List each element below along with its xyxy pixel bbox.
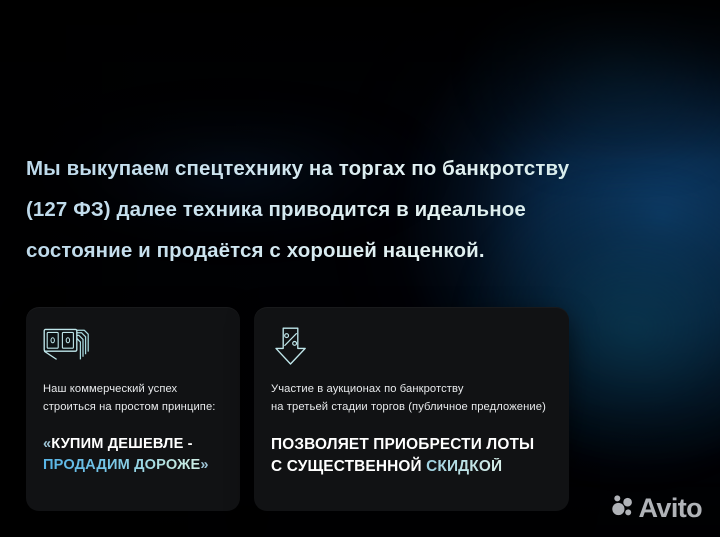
punch-line-1: КУПИМ ДЕШЕВЛЕ - [51,436,192,452]
avito-wordmark: Avito [639,495,703,522]
quote-close: » [200,457,208,473]
avito-logo-icon [610,494,635,523]
avito-watermark: Avito [610,494,703,523]
card-list: Наш коммерческий успех строиться на прос… [26,307,569,511]
banknotes-icon [43,325,223,367]
card-punch-text: ПОЗВОЛЯЕТ ПРИОБРЕСТИ ЛОТЫ С СУЩЕСТВЕННОЙ… [271,434,552,477]
punch-line-1: ПОЗВОЛЯЕТ ПРИОБРЕСТИ ЛОТЫ [271,436,534,453]
card-lead-text: Наш коммерческий успех строиться на прос… [43,381,223,416]
headline-text: Мы выкупаем спецтехнику на торгах по бан… [26,148,606,271]
card-punch-text: «КУПИМ ДЕШЕВЛЕ - ПРОДАДИМ ДОРОЖЕ» [43,434,223,475]
card-auction-discount: Участие в аукционах по банкротству на тр… [254,307,569,511]
card-commercial-principle: Наш коммерческий успех строиться на прос… [26,307,240,511]
banner-content: Мы выкупаем спецтехнику на торгах по бан… [0,0,720,537]
punch-line-2-accent: СКИДКОЙ [426,458,502,475]
promo-banner: Мы выкупаем спецтехнику на торгах по бан… [0,0,720,537]
punch-line-2-plain: С СУЩЕСТВЕННОЙ [271,458,426,475]
punch-line-2: ПРОДАДИМ ДОРОЖЕ [43,457,200,473]
card-lead-text: Участие в аукционах по банкротству на тр… [271,381,552,416]
percent-down-arrow-icon [271,325,552,367]
